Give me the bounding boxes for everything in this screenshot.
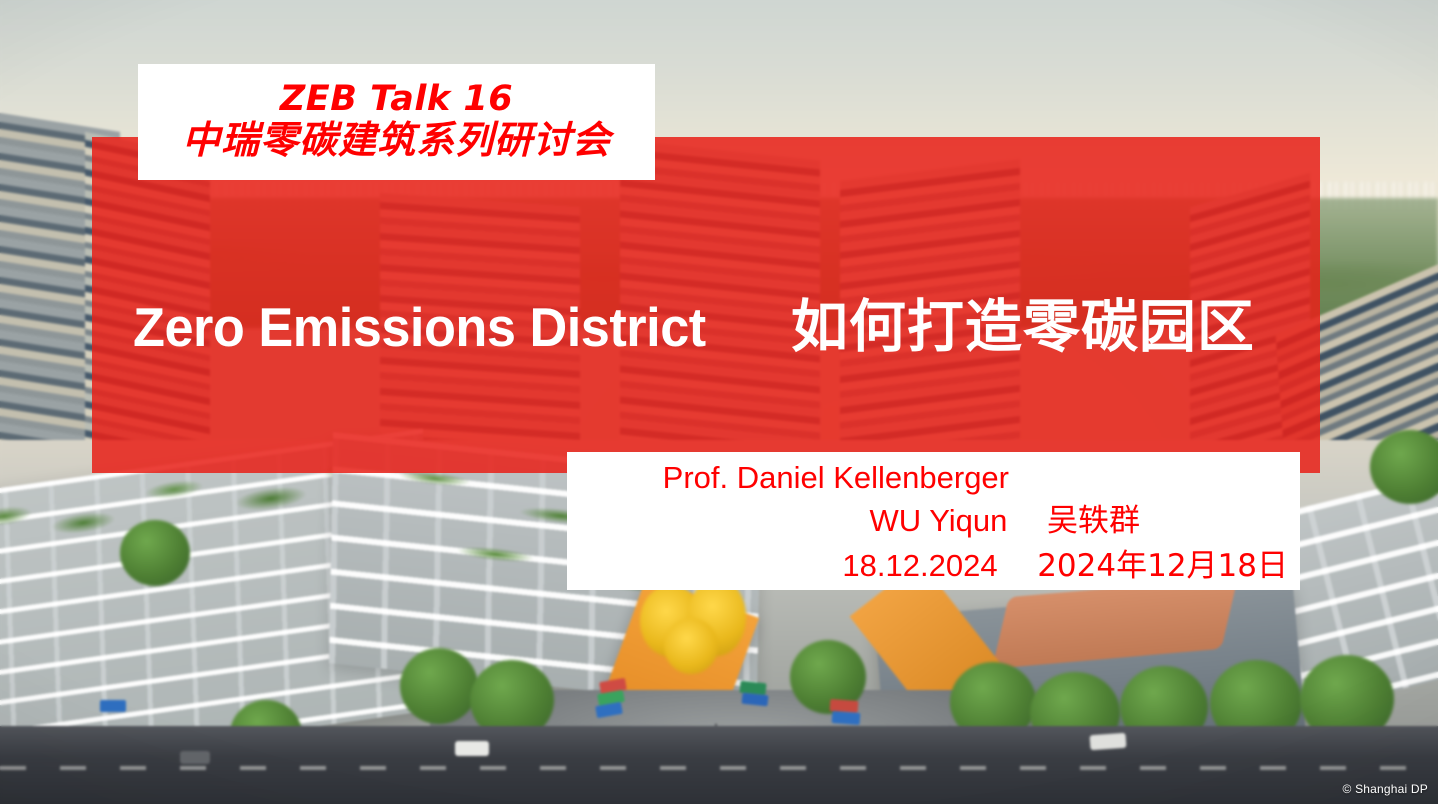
presentation-date-western: 18.12.2024 [842, 548, 997, 583]
page-title: Zero Emissions District 如何打造零碳园区 [133, 281, 1253, 363]
series-title-chinese: 中瑞零碳建筑系列研讨会 [182, 119, 611, 162]
car [1090, 733, 1127, 750]
speaker-name-primary: Prof. Daniel Kellenberger [663, 456, 1292, 499]
street-tree [120, 520, 190, 586]
speaker-name-secondary: WU Yiqun 吴轶群 [870, 499, 1292, 543]
copyright-notice: © Shanghai DP [1343, 782, 1429, 796]
series-title-box: ZEB Talk 16 中瑞零碳建筑系列研讨会 [138, 64, 655, 180]
market-stall-awning [100, 700, 126, 712]
series-title-english: ZEB Talk 16 [280, 80, 513, 119]
foreground-road [0, 726, 1438, 804]
car [455, 741, 489, 756]
presentation-title-slide: ZEB Talk 16 中瑞零碳建筑系列研讨会 Zero Emissions D… [0, 0, 1438, 804]
market-stall-awning [832, 711, 861, 725]
speaker-info-box: Prof. Daniel Kellenberger WU Yiqun 吴轶群 1… [567, 452, 1300, 590]
speaker-name-secondary-chinese: 吴轶群 [1016, 503, 1140, 539]
street-tree [400, 648, 478, 724]
main-title-english: Zero Emissions District [133, 295, 706, 359]
car [180, 751, 210, 764]
road-lane-markings [0, 766, 1438, 770]
presentation-date: 18.12.2024 2024年12月18日 [842, 544, 1292, 588]
autumn-tree [664, 618, 718, 674]
presentation-date-chinese: 2024年12月18日 [1006, 548, 1288, 584]
speaker-name-secondary-english: WU Yiqun [870, 503, 1008, 538]
main-title-chinese: 如何打造零碳园区 [791, 281, 1255, 363]
